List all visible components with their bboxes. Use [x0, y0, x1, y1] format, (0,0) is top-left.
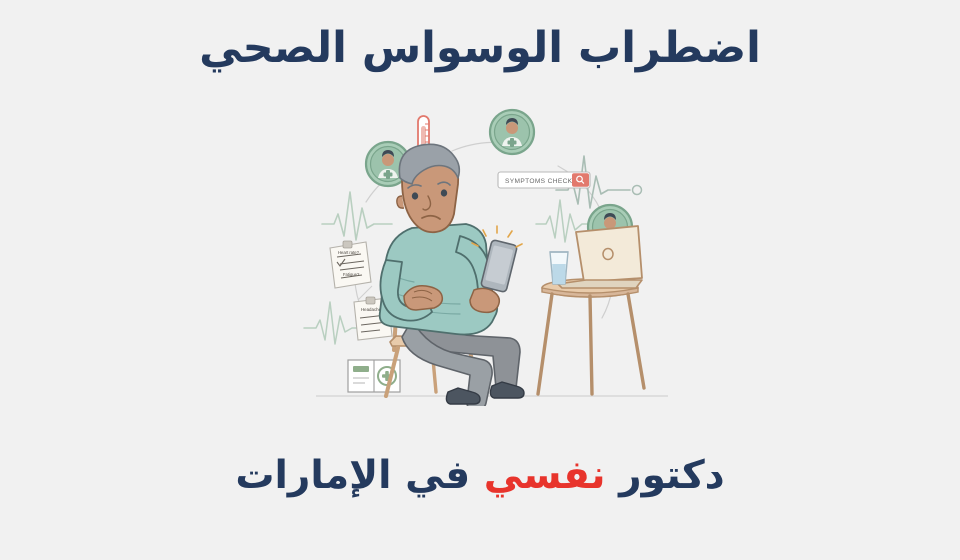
ecg-wave-left	[322, 192, 392, 240]
doctor-badge-top	[490, 110, 534, 154]
note-1-line-1: Heart rate?	[338, 250, 360, 255]
page-subtitle: دكتور نفسي في الإمارات	[0, 452, 960, 501]
page-title-text: اضطراب الوسواس الصحي	[199, 22, 761, 76]
note-1: Heart rate? Fatigue?	[330, 241, 371, 288]
subtitle-line: دكتور نفسي في الإمارات	[235, 452, 724, 501]
health-anxiety-illustration: Heart rate? Fatigue? Headache!	[300, 96, 680, 406]
search-button	[572, 173, 589, 187]
page-title: اضطراب الوسواس الصحي	[0, 22, 960, 76]
water-glass	[550, 252, 568, 284]
subtitle-suffix: في الإمارات	[235, 453, 483, 498]
search-query-text: SYMPTOMS CHECKER	[505, 178, 582, 185]
note-2-line-1: Headache!	[361, 307, 382, 312]
symptoms-checker-search-bar[interactable]: SYMPTOMS CHECKER	[498, 172, 590, 188]
poster-canvas: اضطراب الوسواس الصحي	[0, 0, 960, 560]
laptop	[558, 226, 642, 288]
note-1-line-2: Fatigue?	[343, 272, 360, 277]
side-table	[538, 279, 644, 394]
subtitle-accent: نفسي	[484, 453, 606, 498]
subtitle-prefix: دكتور	[606, 453, 725, 498]
